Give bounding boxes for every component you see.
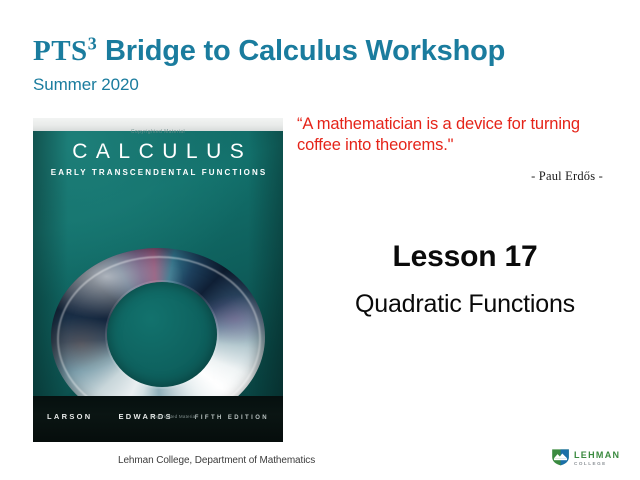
cover-title-text: CALCULUS	[33, 140, 283, 164]
title-block: PTS3 Bridge to Calculus Workshop Summer …	[33, 36, 613, 95]
cover-edition-text: FIFTH EDITION	[195, 415, 269, 421]
lesson-number: Lesson 17	[300, 240, 630, 274]
cover-copyright-top-text: Copyrighted Material	[33, 129, 283, 135]
lehman-name-top: LEHMAN	[574, 451, 620, 460]
footer-text: Lehman College, Department of Mathematic…	[118, 455, 315, 466]
cover-subtitle-text: EARLY TRANSCENDENTAL FUNCTIONS	[33, 168, 283, 177]
title-acronym-text: PTS	[33, 35, 88, 67]
slide-subtitle: Summer 2020	[33, 75, 613, 95]
lehman-name-bottom: COLLEGE	[574, 462, 620, 467]
quote-attribution: - Paul Erdős -	[297, 169, 617, 184]
lehman-wordmark: LEHMAN COLLEGE	[574, 451, 620, 466]
title-rest: Bridge to Calculus Workshop	[97, 35, 505, 67]
presentation-slide: PTS3 Bridge to Calculus Workshop Summer …	[0, 0, 640, 480]
lesson-name: Quadratic Functions	[300, 290, 630, 319]
quote-block: “A mathematician is a device for turning…	[297, 114, 617, 184]
quote-text: “A mathematician is a device for turning…	[297, 114, 617, 156]
lehman-shield-icon	[551, 447, 570, 471]
title-acronym: PTS3	[33, 35, 97, 67]
page-title: PTS3 Bridge to Calculus Workshop	[33, 36, 613, 66]
calculus-textbook-cover-image: Copyrighted Material CALCULUS EARLY TRAN…	[33, 118, 283, 442]
lehman-college-logo: LEHMAN COLLEGE	[551, 447, 631, 471]
cover-vignette	[33, 118, 283, 442]
lesson-block: Lesson 17 Quadratic Functions	[300, 240, 630, 319]
title-superscript: 3	[88, 33, 97, 53]
cover-author-band: LARSON EDWARDS FIFTH EDITION Copyrighted…	[33, 396, 283, 442]
cover-copyright-bottom-text: Copyrighted Material	[151, 414, 197, 419]
cover-author-larson: LARSON	[47, 412, 92, 421]
